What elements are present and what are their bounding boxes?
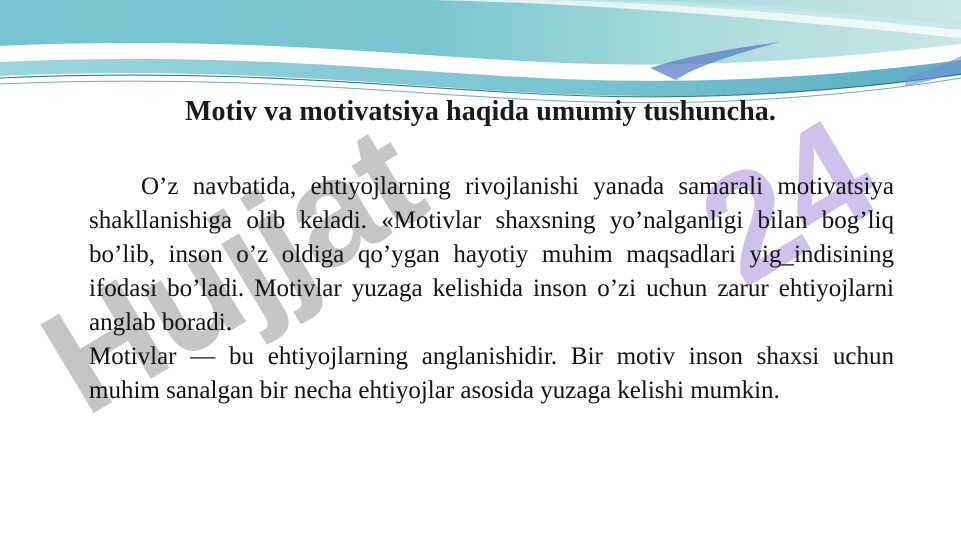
slide-body: O’z navbatida, ehtiyojlarning rivojlanis… — [89, 170, 894, 408]
body-paragraph: O’z navbatida, ehtiyojlarning rivojlanis… — [89, 170, 894, 340]
presentation-slide: Hujjat 24 — [0, 0, 961, 540]
slide-content: Motiv va motivatsiya haqida umumiy tushu… — [0, 0, 961, 540]
body-paragraph: Motivlar — bu ehtiyojlarning anglanishid… — [89, 340, 894, 408]
slide-title: Motiv va motivatsiya haqida umumiy tushu… — [0, 96, 961, 128]
